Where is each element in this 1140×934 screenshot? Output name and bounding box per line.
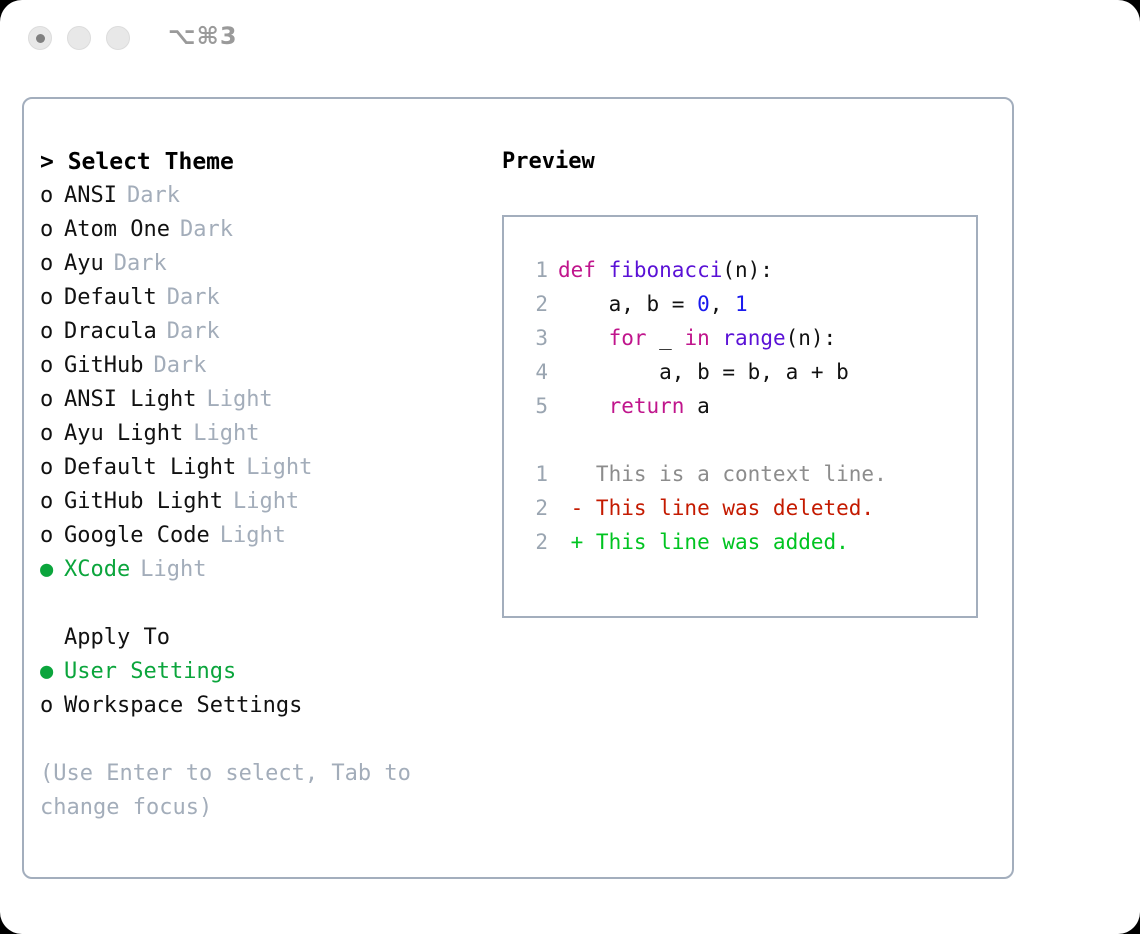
token-pun: (n):	[786, 326, 837, 350]
theme-option-0[interactable]: oANSIDark	[40, 179, 500, 213]
option-tag: Light	[210, 519, 286, 553]
option-label: ANSI	[64, 179, 117, 213]
radio-unselected-icon: o	[40, 519, 64, 553]
theme-option-4[interactable]: oDraculaDark	[40, 315, 500, 349]
option-label: XCode	[64, 553, 130, 587]
apply-to-option-1[interactable]: oWorkspace Settings	[40, 689, 500, 723]
theme-option-3[interactable]: oDefaultDark	[40, 281, 500, 315]
option-label: Ayu	[64, 247, 104, 281]
radio-unselected-icon: o	[40, 485, 64, 519]
radio-unselected-icon: o	[40, 417, 64, 451]
radio-unselected-icon: o	[40, 213, 64, 247]
line-number: 1	[522, 457, 558, 491]
record-dot-icon[interactable]	[28, 26, 52, 50]
code-line-3: 4 a, b = b, a + b	[522, 355, 976, 389]
title-bar: ⌥⌘3	[0, 0, 1140, 78]
token-plain	[558, 326, 609, 350]
option-label: Google Code	[64, 519, 210, 553]
app-window: ⌥⌘3 > Select Theme oANSIDarkoAtom OneDar…	[0, 0, 1140, 934]
preview-title: Preview	[502, 145, 1002, 179]
plain-dot-icon-1[interactable]	[67, 26, 91, 50]
theme-option-1[interactable]: oAtom OneDark	[40, 213, 500, 247]
token-plain: a	[684, 394, 709, 418]
theme-selector-column: > Select Theme oANSIDarkoAtom OneDarkoAy…	[40, 145, 500, 825]
line-content: a, b = 0, 1	[558, 287, 748, 321]
option-tag: Light	[236, 451, 312, 485]
radio-unselected-icon: o	[40, 315, 64, 349]
keyboard-hint-text: (Use Enter to select, Tab to change focu…	[40, 757, 460, 825]
theme-option-8[interactable]: oDefault LightLight	[40, 451, 500, 485]
token-num: 0	[697, 292, 710, 316]
diff-line-1: 2 - This line was deleted.	[522, 491, 976, 525]
token-plain: _	[647, 326, 685, 350]
theme-option-list: oANSIDarkoAtom OneDarkoAyuDarkoDefaultDa…	[40, 179, 500, 587]
code-line-1: 2 a, b = 0, 1	[522, 287, 976, 321]
record-dot-inner	[36, 34, 45, 43]
code-diff-spacer	[522, 423, 976, 457]
option-label: Ayu Light	[64, 417, 183, 451]
option-tag: Light	[196, 383, 272, 417]
radio-unselected-icon: o	[40, 247, 64, 281]
radio-selected-icon: ●	[40, 553, 64, 587]
theme-option-7[interactable]: oAyu LightLight	[40, 417, 500, 451]
line-number: 2	[522, 287, 558, 321]
keyboard-shortcut-label: ⌥⌘3	[168, 22, 238, 50]
line-number: 2	[522, 525, 558, 559]
code-sample: 1def fibonacci(n):2 a, b = 0, 13 for _ i…	[522, 253, 976, 423]
line-content: a, b = b, a + b	[558, 355, 849, 389]
token-plain: ,	[710, 292, 735, 316]
radio-unselected-icon: o	[40, 689, 64, 723]
plain-dot-icon-2[interactable]	[106, 26, 130, 50]
option-label: Default	[64, 281, 157, 315]
line-content: for _ in range(n):	[558, 321, 836, 355]
option-label: Default Light	[64, 451, 236, 485]
theme-option-2[interactable]: oAyuDark	[40, 247, 500, 281]
option-tag: Dark	[157, 315, 220, 349]
apply-to-option-0[interactable]: ●User Settings	[40, 655, 500, 689]
radio-unselected-icon: o	[40, 383, 64, 417]
radio-unselected-icon: o	[40, 451, 64, 485]
panel-columns: > Select Theme oANSIDarkoAtom OneDarkoAy…	[24, 99, 1012, 877]
token-plain: a, b = b, a + b	[558, 360, 849, 384]
line-number: 5	[522, 389, 558, 423]
option-tag: Light	[223, 485, 299, 519]
token-kw: in	[684, 326, 709, 350]
radio-unselected-icon: o	[40, 179, 64, 213]
token-fn: range	[722, 326, 785, 350]
diff-line-0: 1 This is a context line.	[522, 457, 976, 491]
code-line-4: 5 return a	[522, 389, 976, 423]
line-number: 2	[522, 491, 558, 525]
token-kw: def	[558, 258, 609, 282]
line-content: This is a context line.	[558, 457, 887, 491]
line-number: 4	[522, 355, 558, 389]
theme-option-5[interactable]: oGitHubDark	[40, 349, 500, 383]
option-tag: Dark	[143, 349, 206, 383]
token-num: 1	[735, 292, 748, 316]
token-plain	[558, 394, 609, 418]
token-ctx: This is a context line.	[558, 462, 887, 486]
token-kw: for	[609, 326, 647, 350]
apply-to-option-list: ●User SettingsoWorkspace Settings	[40, 655, 500, 723]
option-label: ANSI Light	[64, 383, 196, 417]
radio-selected-icon: ●	[40, 655, 64, 689]
token-pun: (n):	[722, 258, 773, 282]
theme-option-6[interactable]: oANSI LightLight	[40, 383, 500, 417]
line-content: - This line was deleted.	[558, 491, 874, 525]
theme-option-10[interactable]: oGoogle CodeLight	[40, 519, 500, 553]
option-tag: Dark	[117, 179, 180, 213]
token-kw: return	[609, 394, 685, 418]
option-tag: Light	[130, 553, 206, 587]
line-number: 1	[522, 253, 558, 287]
apply-to-title: Apply To	[40, 621, 500, 655]
token-add: + This line was added.	[558, 530, 849, 554]
option-tag: Dark	[157, 281, 220, 315]
token-fn: fibonacci	[609, 258, 723, 282]
option-label: GitHub	[64, 349, 143, 383]
diff-sample: 1 This is a context line.2 - This line w…	[522, 457, 976, 559]
token-plain	[710, 326, 723, 350]
option-tag: Dark	[104, 247, 167, 281]
code-line-0: 1def fibonacci(n):	[522, 253, 976, 287]
theme-option-9[interactable]: oGitHub LightLight	[40, 485, 500, 519]
radio-unselected-icon: o	[40, 281, 64, 315]
token-del: - This line was deleted.	[558, 496, 874, 520]
option-tag: Light	[183, 417, 259, 451]
line-content: def fibonacci(n):	[558, 253, 773, 287]
option-tag: Dark	[170, 213, 233, 247]
window-controls	[28, 26, 130, 50]
preview-column: Preview 1def fibonacci(n):2 a, b = 0, 13…	[502, 145, 1002, 618]
token-plain: a, b =	[558, 292, 697, 316]
option-label: Dracula	[64, 315, 157, 349]
section-spacer	[40, 587, 500, 621]
line-content: return a	[558, 389, 710, 423]
radio-unselected-icon: o	[40, 349, 64, 383]
diff-line-2: 2 + This line was added.	[522, 525, 976, 559]
line-content: + This line was added.	[558, 525, 849, 559]
theme-list-title: > Select Theme	[40, 145, 500, 179]
line-number: 3	[522, 321, 558, 355]
main-panel: > Select Theme oANSIDarkoAtom OneDarkoAy…	[22, 97, 1014, 879]
option-label: GitHub Light	[64, 485, 223, 519]
code-line-2: 3 for _ in range(n):	[522, 321, 976, 355]
preview-box: 1def fibonacci(n):2 a, b = 0, 13 for _ i…	[502, 215, 978, 618]
option-label: User Settings	[64, 655, 236, 689]
theme-option-11[interactable]: ●XCodeLight	[40, 553, 500, 587]
option-label: Workspace Settings	[64, 689, 302, 723]
option-label: Atom One	[64, 213, 170, 247]
